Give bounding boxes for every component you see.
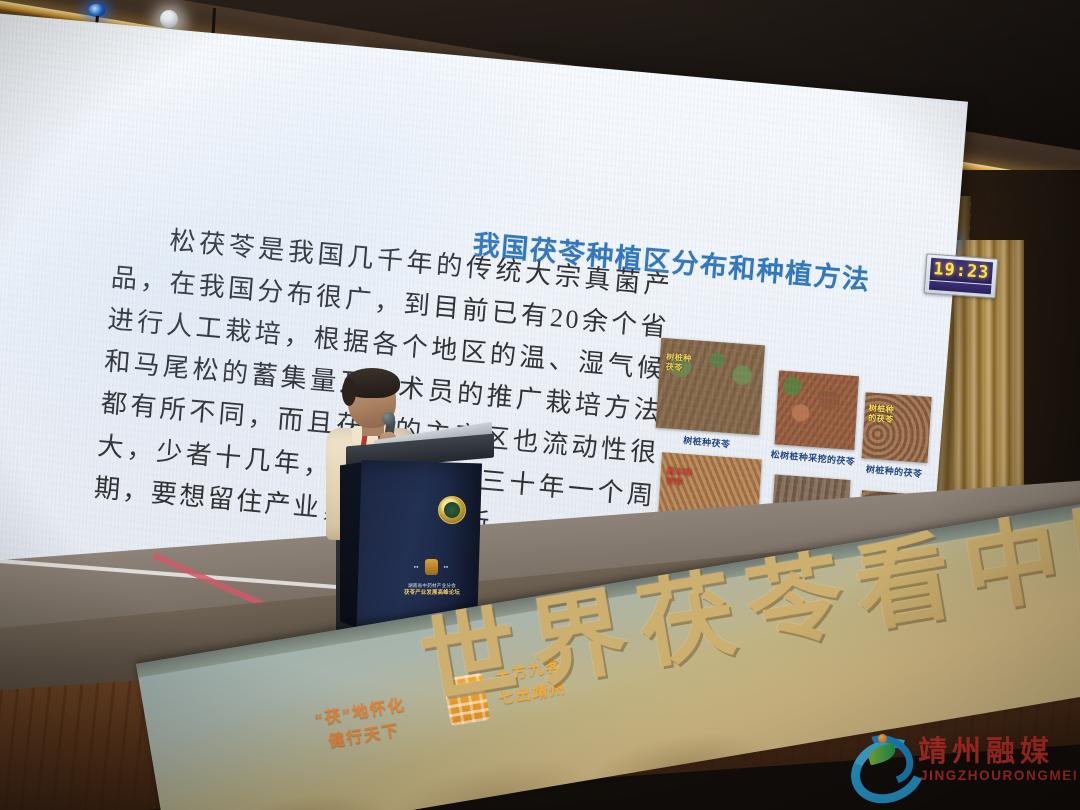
- podium-emblem-icon: [438, 496, 466, 524]
- clock-lcd: 19:23: [930, 258, 993, 284]
- podium-org-line: 湖南省中药材产业分会: [380, 582, 484, 589]
- photo-2-overlay-label: 树桩种的茯苓: [868, 403, 895, 425]
- photo-1: [775, 370, 859, 450]
- conference-hall-photo: 我国茯苓种植区分布和种植方法 松茯苓是我国几千年的传统大宗真菌产品，在我国分布很…: [0, 0, 1080, 810]
- podium-front-panel: ●● ●● 湖南省中药材产业分会 茯苓产业发展高峰论坛 靖州 · 中国 · 湖南: [354, 460, 482, 632]
- podium-sponsor-logos: ●● ●●: [378, 558, 484, 576]
- venue-digital-clock: 19:23: [924, 253, 999, 298]
- photo-0-overlay-label: 树桩种茯苓: [665, 353, 692, 375]
- podium-seal-icon: [425, 559, 438, 575]
- podium-text-block: 湖南省中药材产业分会 茯苓产业发展高峰论坛: [380, 582, 484, 598]
- watermark-pinyin-name: JINGZHOURONGMEI: [920, 768, 1078, 783]
- photo-3-overlay-label: 椴木种茯苓: [666, 467, 693, 489]
- podium-event-line: 茯苓产业发展高峰论坛: [380, 589, 484, 598]
- speaker-glasses: [351, 392, 393, 402]
- watermark-chinese-name: 靖州融媒: [918, 728, 1054, 770]
- broadcaster-watermark: 靖州融媒 JINGZHOURONGMEI: [848, 726, 1074, 796]
- photo-0: 树桩种茯苓: [656, 338, 765, 435]
- photo-2-caption: 树桩种的茯苓: [858, 461, 931, 480]
- microphone-head-icon: [382, 412, 395, 425]
- clock-time: 19:23: [933, 259, 991, 283]
- photo-0-caption: 树桩种茯苓: [664, 432, 751, 453]
- photo-1-caption: 松树桩种采挖的茯苓: [767, 447, 860, 468]
- watermark-logo-icon: [848, 730, 910, 788]
- photo-2: 树桩种的茯苓: [862, 392, 932, 463]
- photo-1-image: [775, 370, 859, 450]
